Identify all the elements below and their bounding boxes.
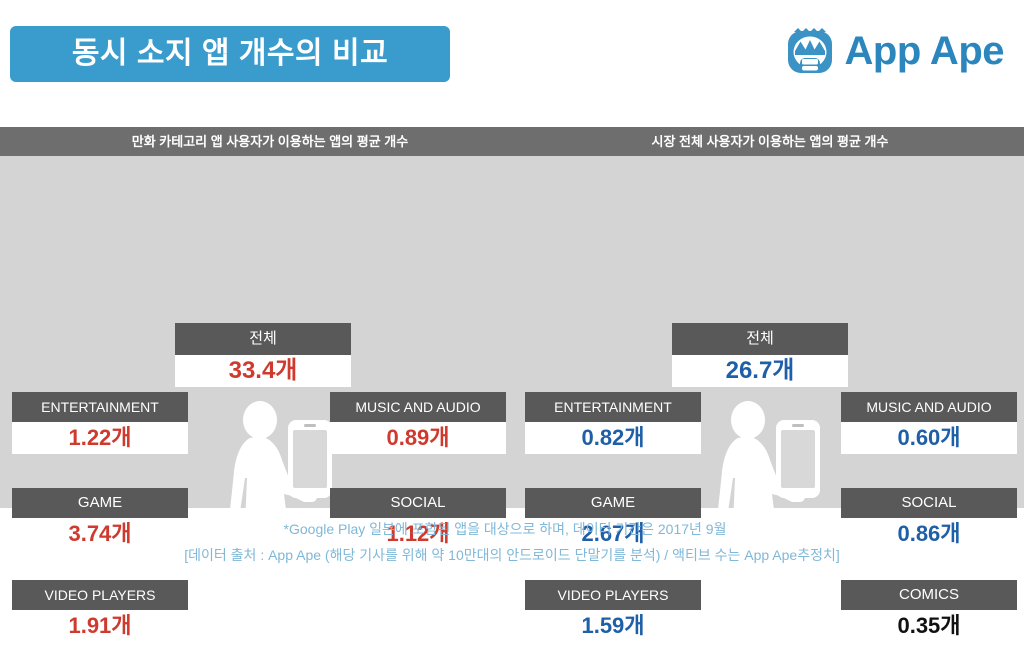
card-label: 전체 bbox=[175, 323, 351, 355]
card-label: COMICS bbox=[841, 580, 1017, 610]
card-right-video-players: VIDEO PLAYERS 1.59개 bbox=[525, 580, 701, 642]
card-value: 26.7개 bbox=[672, 355, 848, 387]
card-value: 0.60개 bbox=[841, 422, 1017, 454]
app-ape-logo: App Ape bbox=[785, 24, 1004, 78]
card-value: 0.82개 bbox=[525, 422, 701, 454]
footnotes: *Google Play 일본에 포함된 앱을 대상으로 하며, 데이터 기간은… bbox=[0, 516, 1024, 568]
band-title-left: 만화 카테고리 앱 사용자가 이용하는 앱의 평균 개수 bbox=[60, 127, 480, 156]
card-right-total: 전체 26.7개 bbox=[672, 323, 848, 387]
logo-text: App Ape bbox=[845, 31, 1004, 71]
column-header-band: 만화 카테고리 앱 사용자가 이용하는 앱의 평균 개수 시장 전체 사용자가 … bbox=[0, 127, 1024, 156]
footnote-line-1: *Google Play 일본에 포함된 앱을 대상으로 하며, 데이터 기간은… bbox=[0, 516, 1024, 542]
card-left-music-and-audio: MUSIC AND AUDIO 0.89개 bbox=[330, 392, 506, 454]
band-title-right: 시장 전체 사용자가 이용하는 앱의 평균 개수 bbox=[560, 127, 980, 156]
title-banner: 동시 소지 앱 개수의 비교 bbox=[10, 26, 450, 82]
card-left-entertainment: ENTERTAINMENT 1.22개 bbox=[12, 392, 188, 454]
card-label: GAME bbox=[12, 488, 188, 518]
card-value: 1.91개 bbox=[12, 610, 188, 642]
card-left-total: 전체 33.4개 bbox=[175, 323, 351, 387]
card-label: MUSIC AND AUDIO bbox=[841, 392, 1017, 422]
card-right-comics: COMICS 0.35개 bbox=[841, 580, 1017, 642]
card-label: SOCIAL bbox=[841, 488, 1017, 518]
card-value: 1.59개 bbox=[525, 610, 701, 642]
card-right-music-and-audio: MUSIC AND AUDIO 0.60개 bbox=[841, 392, 1017, 454]
card-value: 1.22개 bbox=[12, 422, 188, 454]
page-title: 동시 소지 앱 개수의 비교 bbox=[72, 39, 388, 69]
card-value: 0.35개 bbox=[841, 610, 1017, 642]
card-label: GAME bbox=[525, 488, 701, 518]
card-value: 0.89개 bbox=[330, 422, 506, 454]
ape-face-icon bbox=[785, 26, 835, 76]
card-label: 전체 bbox=[672, 323, 848, 355]
card-label: SOCIAL bbox=[330, 488, 506, 518]
card-label: ENTERTAINMENT bbox=[525, 392, 701, 422]
card-label: VIDEO PLAYERS bbox=[525, 580, 701, 610]
card-value: 33.4개 bbox=[175, 355, 351, 387]
card-label: VIDEO PLAYERS bbox=[12, 580, 188, 610]
card-label: ENTERTAINMENT bbox=[12, 392, 188, 422]
card-left-video-players: VIDEO PLAYERS 1.91개 bbox=[12, 580, 188, 642]
comparison-panel: 전체 33.4개 ENTERTAINMENT 1.22개 MUSIC AND A… bbox=[0, 156, 1024, 508]
footnote-line-2: [데이터 출처 : App Ape (해당 기사를 위해 약 10만대의 안드로… bbox=[0, 542, 1024, 568]
card-label: MUSIC AND AUDIO bbox=[330, 392, 506, 422]
card-right-entertainment: ENTERTAINMENT 0.82개 bbox=[525, 392, 701, 454]
